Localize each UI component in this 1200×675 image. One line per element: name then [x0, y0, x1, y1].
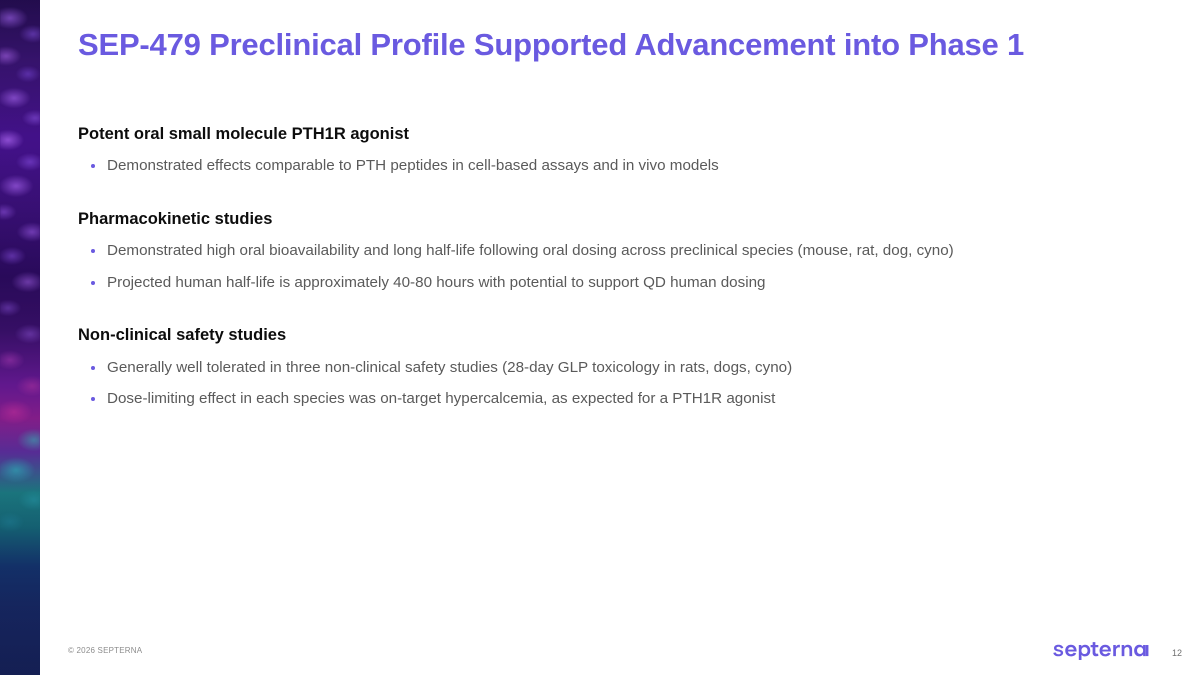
bullet-dot-icon — [91, 164, 95, 168]
bullet-dot-icon — [91, 281, 95, 285]
strip-shading-overlay — [0, 0, 40, 675]
list-item: Generally well tolerated in three non-cl… — [78, 358, 1138, 379]
section-heading-2: Pharmacokinetic studies — [78, 209, 1138, 230]
bullet-list-1: Demonstrated effects comparable to PTH p… — [78, 156, 1138, 177]
bullet-text: Dose-limiting effect in each species was… — [107, 390, 775, 407]
section-spacer — [78, 189, 1138, 209]
slide-body: Potent oral small molecule PTH1R agonist… — [78, 124, 1138, 410]
bullet-text: Projected human half-life is approximate… — [107, 274, 765, 291]
septerna-logo — [1053, 641, 1163, 660]
bullet-dot-icon — [91, 249, 95, 253]
list-item: Demonstrated high oral bioavailability a… — [78, 241, 1138, 262]
left-decorative-image-strip — [0, 0, 40, 675]
list-item: Projected human half-life is approximate… — [78, 273, 1138, 294]
content-section-3: Non-clinical safety studies Generally we… — [78, 325, 1138, 409]
list-item: Dose-limiting effect in each species was… — [78, 389, 1138, 410]
bullet-dot-icon — [91, 397, 95, 401]
footer-copyright: © 2026 SEPTERNA — [68, 646, 142, 655]
bullet-text: Generally well tolerated in three non-cl… — [107, 359, 792, 376]
page-number: 12 — [1172, 648, 1182, 660]
slide-title: SEP-479 Preclinical Profile Supported Ad… — [78, 26, 1178, 63]
section-heading-3: Non-clinical safety studies — [78, 325, 1138, 346]
presentation-slide: SEP-479 Preclinical Profile Supported Ad… — [0, 0, 1200, 675]
bullet-list-2: Demonstrated high oral bioavailability a… — [78, 241, 1138, 293]
bullet-dot-icon — [91, 366, 95, 370]
section-spacer — [78, 305, 1138, 325]
content-section-2: Pharmacokinetic studies Demonstrated hig… — [78, 209, 1138, 293]
footer-right-group: 12 — [1053, 641, 1182, 660]
list-item: Demonstrated effects comparable to PTH p… — [78, 156, 1138, 177]
section-heading-1: Potent oral small molecule PTH1R agonist — [78, 124, 1138, 145]
bullet-text: Demonstrated effects comparable to PTH p… — [107, 157, 719, 174]
bullet-list-3: Generally well tolerated in three non-cl… — [78, 358, 1138, 410]
content-section-1: Potent oral small molecule PTH1R agonist… — [78, 124, 1138, 177]
bullet-text: Demonstrated high oral bioavailability a… — [107, 242, 954, 259]
